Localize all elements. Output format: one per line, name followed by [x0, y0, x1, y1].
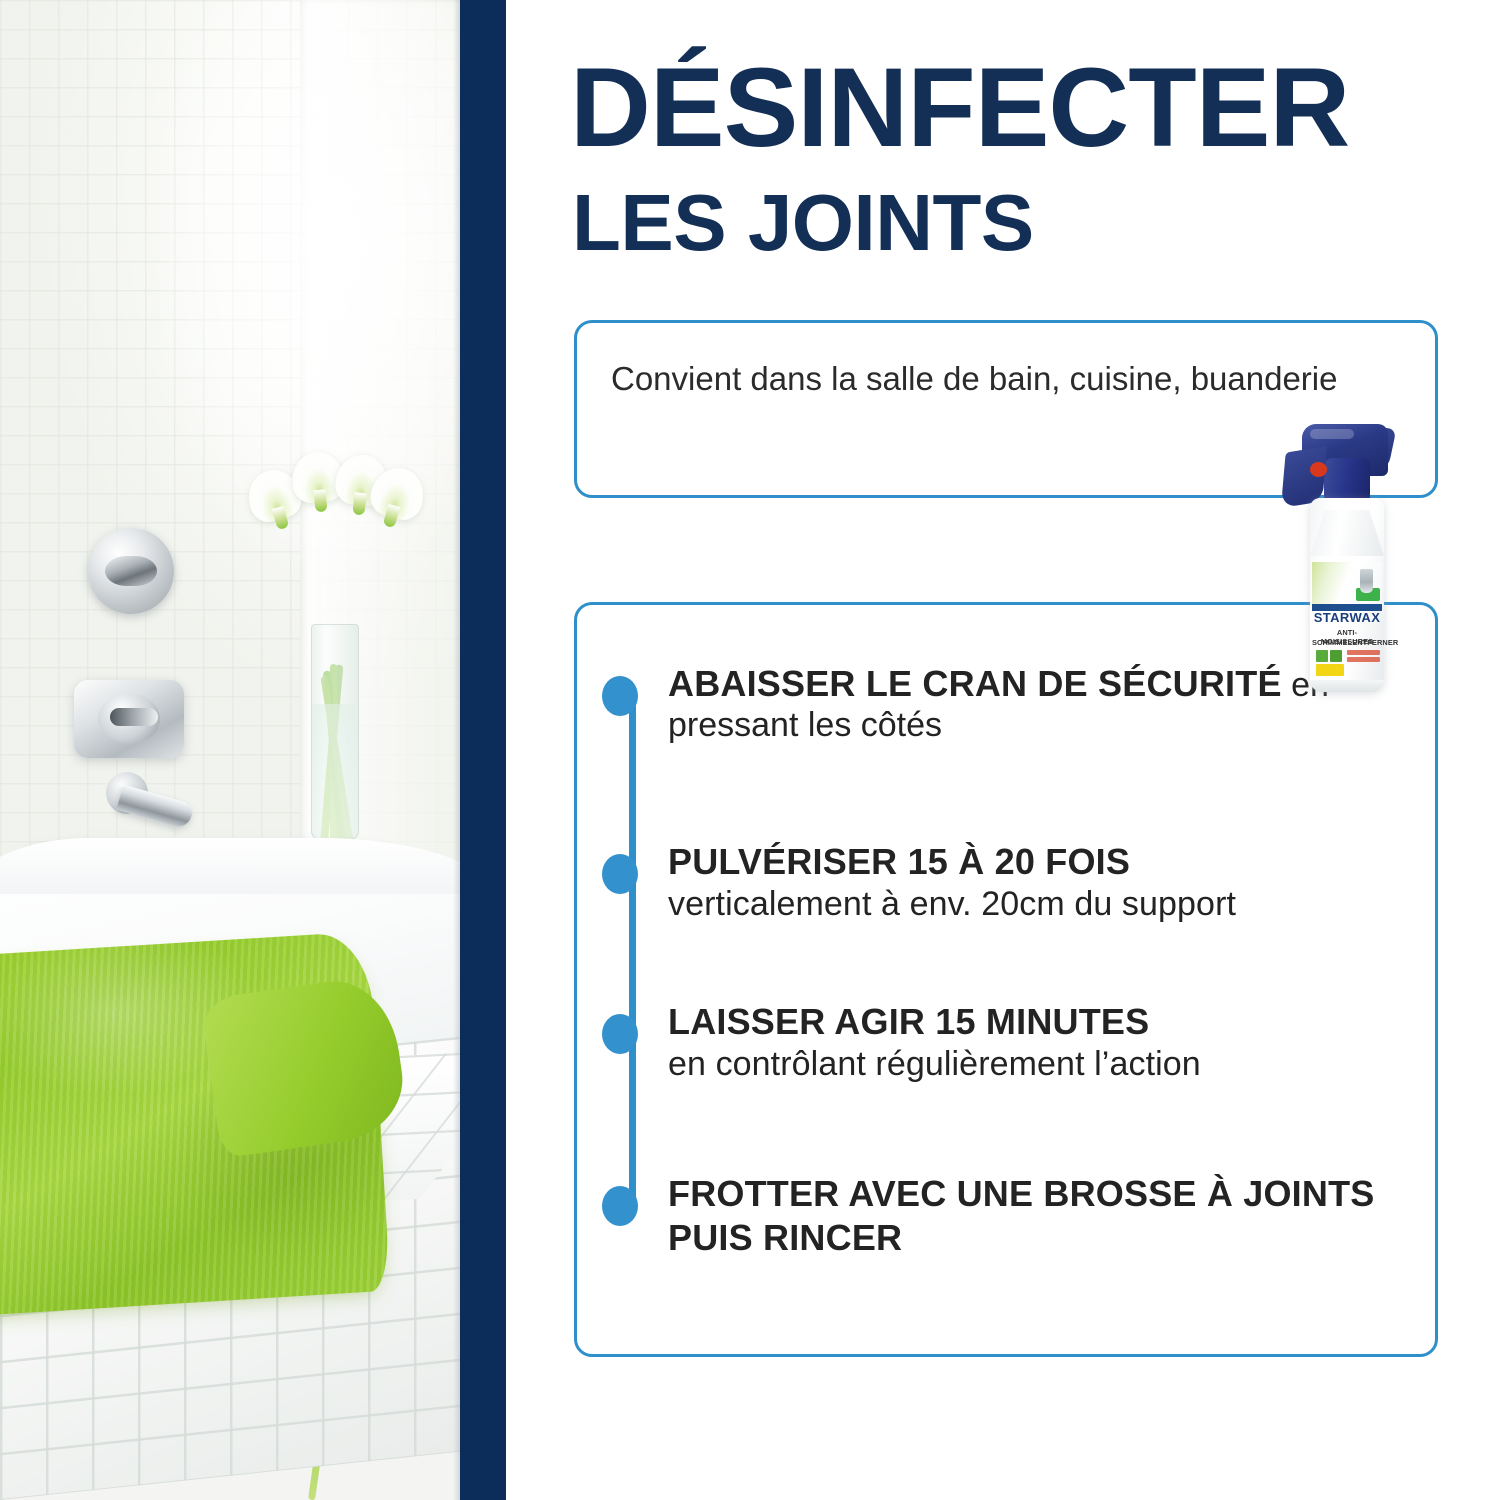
- product-name-de: SCHIMMELENTFERNER: [1312, 638, 1382, 647]
- warning-badge: [1316, 664, 1344, 676]
- product-brand: STARWAX: [1312, 610, 1382, 625]
- safety-catch-red-icon: [1310, 462, 1327, 477]
- label-eco-badge: [1356, 588, 1380, 601]
- step-3-strong: LAISSER AGIR 15 MINUTES: [668, 1000, 1408, 1044]
- eco-pictogram-icon: [1330, 650, 1342, 662]
- bath-mixer-valve-icon: [74, 680, 184, 758]
- vase-water: [312, 704, 358, 839]
- infographic-canvas: DÉSINFECTER LES JOINTS Convient dans la …: [0, 0, 1500, 1500]
- page-title: DÉSINFECTER: [570, 52, 1349, 164]
- step-3-text: LAISSER AGIR 15 MINUTES en contrôlant ré…: [668, 1000, 1408, 1085]
- intro-text: Convient dans la salle de bain, cuisine,…: [611, 357, 1411, 401]
- step-1-strong: ABAISSER LE CRAN DE SÉCURITÉ: [668, 663, 1282, 704]
- step-3-light: en contrôlant régulièrement l’action: [668, 1044, 1408, 1085]
- bullet-icon: [602, 1014, 638, 1054]
- bathroom-photo: [0, 0, 460, 1500]
- steps-timeline-connector: [629, 700, 636, 1208]
- content-panel: DÉSINFECTER LES JOINTS Convient dans la …: [506, 0, 1500, 1500]
- step-4-strong: FROTTER AVEC UNE BROSSE À JOINTS PUIS RI…: [668, 1172, 1408, 1260]
- label-photo-artwork: [1312, 562, 1382, 606]
- bullet-icon: [602, 676, 638, 716]
- trigger-gloss-highlight: [1310, 429, 1354, 439]
- step-4-text: FROTTER AVEC UNE BROSSE À JOINTS PUIS RI…: [668, 1172, 1408, 1260]
- photo-edge-shadow: [453, 0, 460, 1500]
- bathtub-rim: [0, 838, 460, 894]
- spray-bottle-product: STARWAX ANTI-MOISISSURES SCHIMMELENTFERN…: [1276, 418, 1406, 698]
- step-2-text: PULVÉRISER 15 À 20 FOIS verticalement à …: [668, 840, 1408, 925]
- shower-diverter-knob-icon: [88, 528, 174, 614]
- bullet-icon: [602, 1186, 638, 1226]
- navy-divider-bar: [460, 0, 506, 1500]
- claim-line-de: [1347, 657, 1380, 662]
- page-subtitle: LES JOINTS: [572, 183, 1034, 263]
- step-2-strong: PULVÉRISER 15 À 20 FOIS: [668, 840, 1408, 884]
- trigger-neck: [1324, 458, 1370, 502]
- claim-line-fr: [1347, 650, 1380, 655]
- bullet-icon: [602, 854, 638, 894]
- eco-pictogram-icon: [1316, 650, 1328, 662]
- bottle-base: [1310, 680, 1384, 692]
- glass-vase: [311, 624, 359, 840]
- label-pictograms: [1316, 650, 1380, 662]
- step-2-light: verticalement à env. 20cm du support: [668, 884, 1408, 925]
